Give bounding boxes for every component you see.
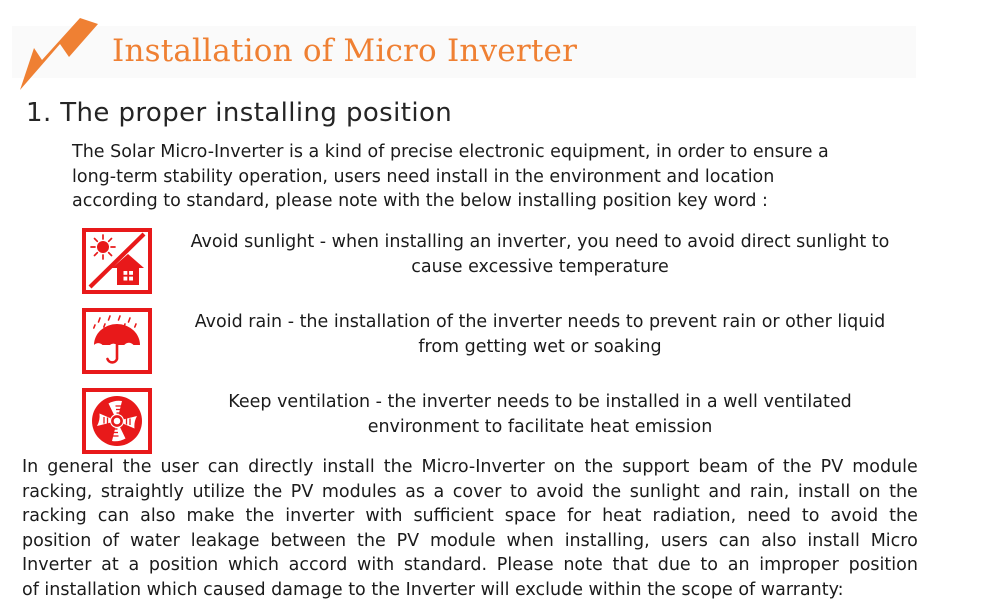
word: install [322, 455, 374, 480]
intro-line: long-term stability operation, users nee… [72, 165, 912, 190]
word: the [584, 455, 613, 480]
closing-line: of installation which caused damage to t… [22, 578, 918, 603]
ventilation-fan-icon [82, 388, 152, 454]
closing-paragraph: IngeneraltheusercandirectlyinstalltheMic… [22, 455, 918, 602]
word: install [807, 529, 859, 554]
word: installing, [565, 529, 650, 554]
word: the [123, 455, 152, 480]
no-sunlight-icon [82, 228, 152, 294]
list-item: Avoid sunlight - when installing an inve… [0, 224, 1000, 304]
word: of [757, 455, 774, 480]
word: to [510, 480, 528, 505]
word: the [357, 529, 386, 554]
word: and [708, 480, 741, 505]
word: to [700, 553, 718, 578]
word: the [246, 504, 275, 529]
list-item-line: Avoid rain - the installation of the inv… [160, 310, 920, 335]
keyword-list: Avoid sunlight - when installing an inve… [0, 224, 1000, 464]
word: utilize [192, 480, 245, 505]
list-item-text: Avoid sunlight - when installing an inve… [160, 230, 920, 280]
word: with [357, 553, 394, 578]
word: to [802, 504, 820, 529]
word: improper [759, 553, 839, 578]
intro-line: The Solar Micro-Inverter is a kind of pr… [72, 140, 912, 165]
word: the [254, 480, 283, 505]
page-title: Installation of Micro Inverter [112, 28, 577, 75]
word: make [187, 504, 235, 529]
word: the [889, 480, 918, 505]
list-item: Keep ventilation - the inverter needs to… [0, 384, 1000, 464]
list-item: Avoid rain - the installation of the inv… [0, 304, 1000, 384]
word: can [98, 504, 129, 529]
word: sufficient [413, 504, 493, 529]
word: Please [497, 553, 554, 578]
word: install [798, 480, 850, 505]
word: the [592, 480, 621, 505]
word: avoid [830, 504, 878, 529]
word: standard. [404, 553, 487, 578]
closing-line: IngeneraltheusercandirectlyinstalltheMic… [22, 455, 918, 480]
word: PV [397, 529, 420, 554]
word: inverter [285, 504, 354, 529]
closing-line: rackingcanalsomaketheinverterwithsuffici… [22, 504, 918, 529]
word: when [507, 529, 554, 554]
word: heat [602, 504, 641, 529]
word: can [208, 455, 239, 480]
word: also [761, 529, 796, 554]
word: note [563, 553, 602, 578]
word: racking [22, 504, 87, 529]
word: beam [698, 455, 748, 480]
list-item-line: cause excessive temperature [160, 255, 920, 280]
list-item-text: Keep ventilation - the inverter needs to… [160, 390, 920, 440]
word: that [612, 553, 648, 578]
word: an [728, 553, 750, 578]
word: Inverter [22, 553, 91, 578]
word: cover [453, 480, 502, 505]
word: users [661, 529, 708, 554]
word: for [567, 504, 591, 529]
word: position [849, 553, 918, 578]
word: rain, [750, 480, 789, 505]
word: with [365, 504, 402, 529]
word: position [149, 553, 218, 578]
page-header: Installation of Micro Inverter [0, 0, 1000, 92]
list-item-line: from getting wet or soaking [160, 335, 920, 360]
word: sunlight [630, 480, 700, 505]
word: at [101, 553, 119, 578]
word: as [405, 480, 425, 505]
word: modules [322, 480, 397, 505]
word: leakage [191, 529, 260, 554]
word: directly [248, 455, 313, 480]
word: a [128, 553, 139, 578]
word: general [47, 455, 114, 480]
intro-paragraph: The Solar Micro-Inverter is a kind of pr… [72, 140, 912, 214]
word: on [859, 480, 881, 505]
umbrella-rain-icon [82, 308, 152, 374]
word: the [783, 455, 812, 480]
word: racking, [22, 480, 92, 505]
word: Micro [871, 529, 918, 554]
word: avoid [536, 480, 584, 505]
word: on [554, 455, 576, 480]
word: support [622, 455, 689, 480]
word: the [889, 504, 918, 529]
word: position [22, 529, 91, 554]
word: In [22, 455, 38, 480]
word: water [130, 529, 180, 554]
word: PV [291, 480, 314, 505]
word: can [719, 529, 750, 554]
list-item-text: Avoid rain - the installation of the inv… [160, 310, 920, 360]
word: a [434, 480, 445, 505]
word: also [140, 504, 175, 529]
word: radiation, [653, 504, 737, 529]
intro-line: according to standard, please note with … [72, 189, 912, 214]
word: accord [289, 553, 348, 578]
word: Micro-Inverter [422, 455, 545, 480]
list-item-line: environment to facilitate heat emission [160, 415, 920, 440]
word: module [852, 455, 918, 480]
list-item-line: Avoid sunlight - when installing an inve… [160, 230, 920, 255]
closing-line: positionofwaterleakagebetweenthePVmodule… [22, 529, 918, 554]
word: between [270, 529, 346, 554]
word: space [505, 504, 556, 529]
word: which [228, 553, 279, 578]
word: due [658, 553, 691, 578]
word: the [384, 455, 413, 480]
lightning-bolt-icon [20, 18, 98, 90]
word: user [161, 455, 199, 480]
closing-line: Inverteratapositionwhichaccordwithstanda… [22, 553, 918, 578]
closing-line: racking,straightlyutilizethePVmodulesasa… [22, 480, 918, 505]
word: module [430, 529, 496, 554]
section-heading: 1. The proper installing position [26, 96, 452, 130]
word: straightly [101, 480, 184, 505]
word: of [102, 529, 119, 554]
word: PV [821, 455, 844, 480]
word: need [747, 504, 791, 529]
list-item-line: Keep ventilation - the inverter needs to… [160, 390, 920, 415]
